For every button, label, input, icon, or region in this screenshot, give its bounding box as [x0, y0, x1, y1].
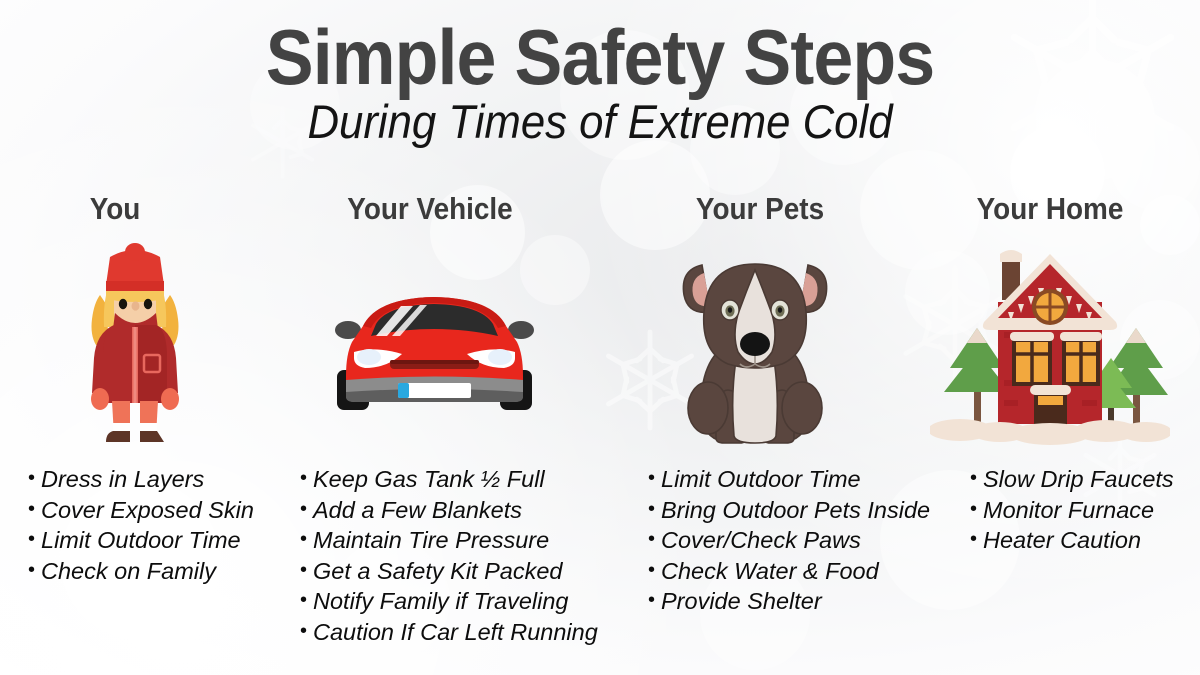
- list-item: Check Water & Food: [648, 556, 930, 587]
- list-item: Slow Drip Faucets: [970, 464, 1174, 495]
- list-item: Get a Safety Kit Packed: [300, 556, 598, 587]
- winter-girl-icon: [70, 243, 200, 443]
- list-item: Caution If Car Left Running: [300, 617, 598, 648]
- list-item: Heater Caution: [970, 525, 1174, 556]
- title-block: Simple Safety Steps During Times of Extr…: [0, 0, 1200, 148]
- column-heading-vehicle: Your Vehicle: [340, 192, 520, 226]
- bullet-list-pets: Limit Outdoor Time Bring Outdoor Pets In…: [648, 464, 930, 617]
- column-heading-home: Your Home: [960, 192, 1140, 226]
- column-heading-pets: Your Pets: [670, 192, 850, 226]
- bullet-list-vehicle: Keep Gas Tank ½ Full Add a Few Blankets …: [300, 464, 598, 647]
- sitting-dog-icon: [660, 240, 850, 450]
- infographic-poster: Simple Safety Steps During Times of Extr…: [0, 0, 1200, 675]
- list-item: Check on Family: [28, 556, 254, 587]
- list-item: Cover Exposed Skin: [28, 495, 254, 526]
- snowy-house-icon: [930, 240, 1170, 450]
- bullet-list-home: Slow Drip Faucets Monitor Furnace Heater…: [970, 464, 1174, 556]
- column-heading-you: You: [25, 192, 205, 226]
- list-item: Cover/Check Paws: [648, 525, 930, 556]
- list-item: Limit Outdoor Time: [648, 464, 930, 495]
- red-car-icon: [327, 288, 542, 423]
- list-item: Provide Shelter: [648, 586, 930, 617]
- page-subtitle: During Times of Extreme Cold: [42, 96, 1158, 148]
- bullet-list-you: Dress in Layers Cover Exposed Skin Limit…: [28, 464, 254, 586]
- list-item: Dress in Layers: [28, 464, 254, 495]
- list-item: Notify Family if Traveling: [300, 586, 598, 617]
- list-item: Limit Outdoor Time: [28, 525, 254, 556]
- list-item: Maintain Tire Pressure: [300, 525, 598, 556]
- list-item: Keep Gas Tank ½ Full: [300, 464, 598, 495]
- list-item: Bring Outdoor Pets Inside: [648, 495, 930, 526]
- page-title: Simple Safety Steps: [48, 0, 1152, 100]
- list-item: Add a Few Blankets: [300, 495, 598, 526]
- list-item: Monitor Furnace: [970, 495, 1174, 526]
